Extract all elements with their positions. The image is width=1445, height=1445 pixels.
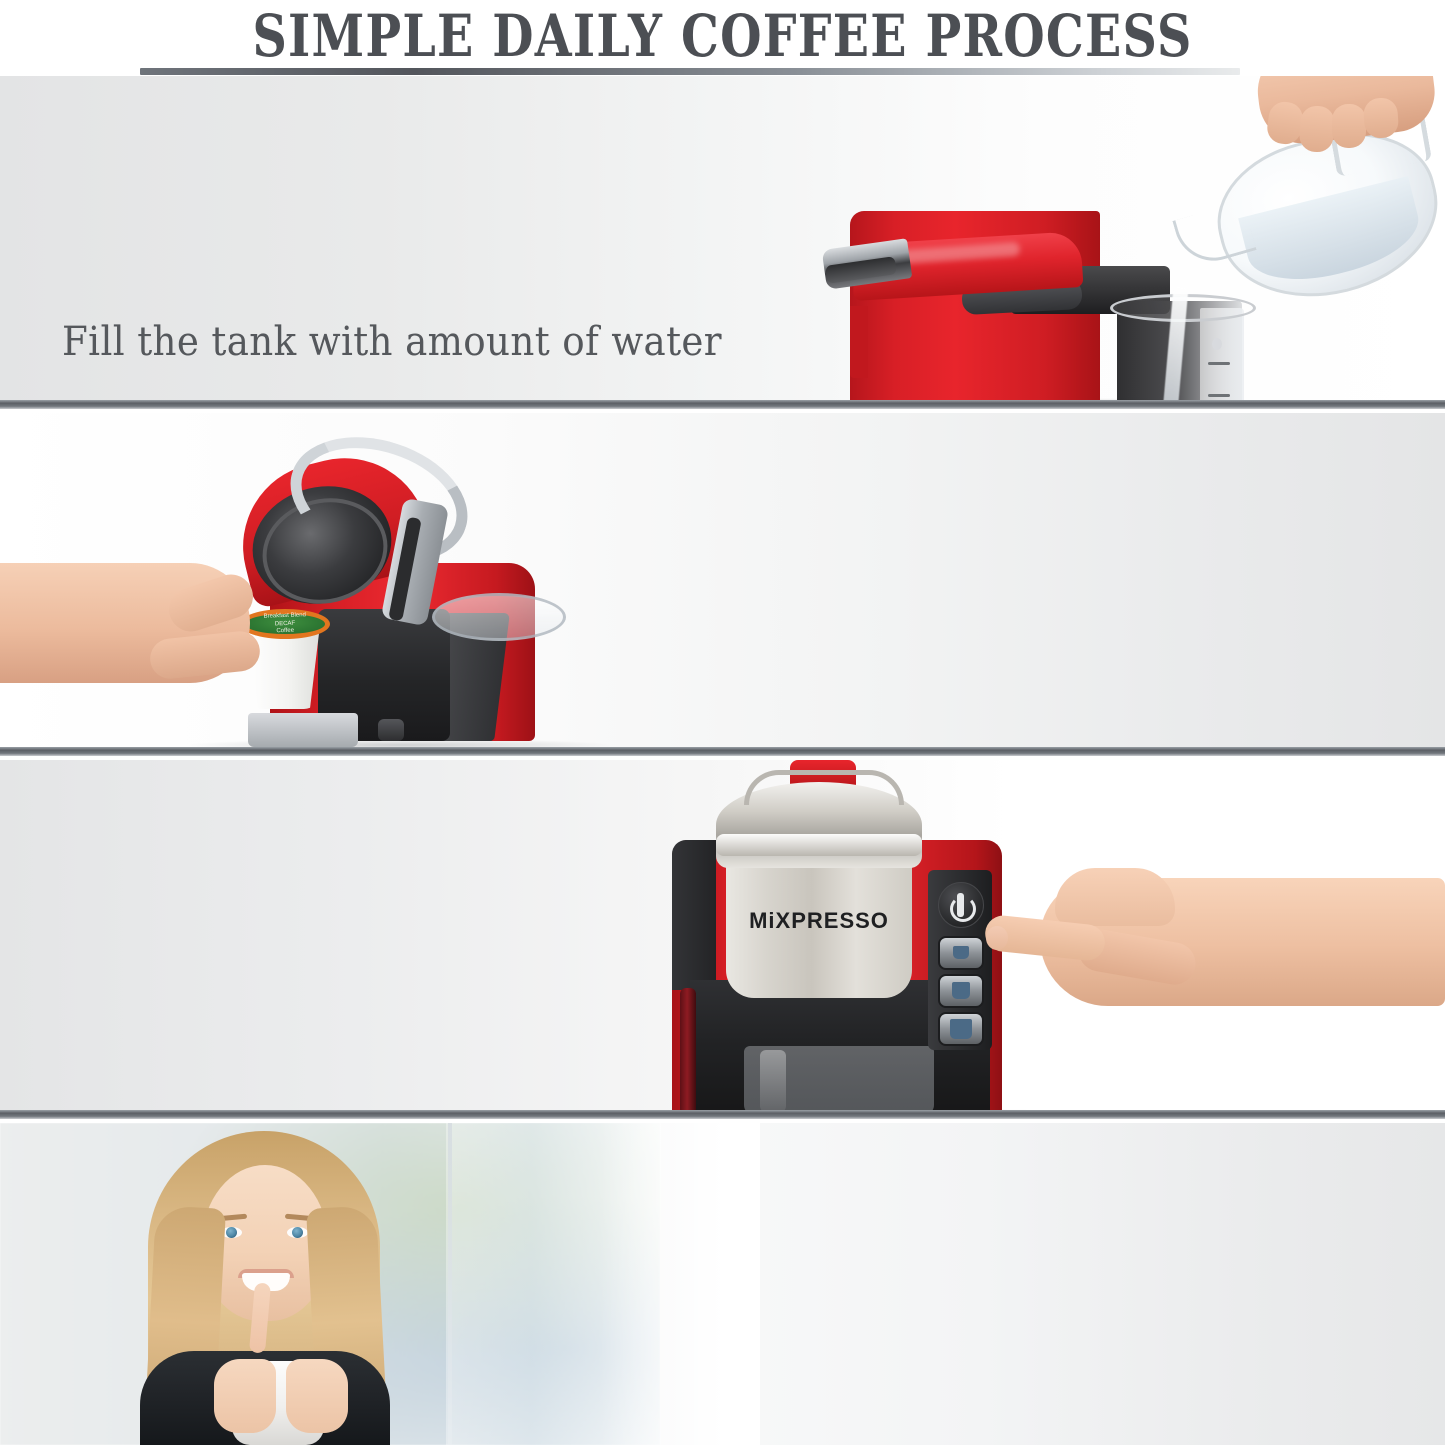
hand-finger bbox=[1363, 97, 1400, 139]
panel-divider-1 bbox=[0, 400, 1445, 409]
water-tank-window bbox=[1200, 308, 1244, 405]
step-2-illustration: Breakfast Blend DECAF Coffee bbox=[0, 413, 1445, 752]
step-3-illustration: MiXPRESSO bbox=[0, 760, 1445, 1115]
pod-label-line-3: Coffee bbox=[276, 628, 294, 635]
large-mug-icon bbox=[950, 1019, 972, 1039]
medium-cup-icon bbox=[952, 982, 970, 999]
panel-divider-2 bbox=[0, 747, 1445, 756]
step-1-caption: Fill the tank with amount of water bbox=[62, 314, 722, 371]
hand-left bbox=[214, 1359, 276, 1433]
step-panel-4: Enjoy your daily morning coffee... bbox=[0, 1123, 1445, 1445]
step-panel-2: Breakfast Blend DECAF Coffee Add our or … bbox=[0, 413, 1445, 752]
step-4-illustration bbox=[0, 1123, 1445, 1445]
hand-finger bbox=[1332, 104, 1366, 148]
tank-level-mark-upper bbox=[1208, 362, 1230, 365]
front-button bbox=[378, 719, 404, 741]
pod-label-line-2: DECAF bbox=[275, 620, 296, 627]
page-title: SIMPLE DAILY COFFEE PROCESS bbox=[130, 2, 1315, 70]
small-cup-icon bbox=[953, 946, 969, 959]
hand-right bbox=[286, 1359, 348, 1433]
brand-logo: MiXPRESSO bbox=[726, 908, 912, 934]
steel-cap-band bbox=[716, 834, 922, 856]
title-underline-rule bbox=[140, 68, 1240, 75]
pod-label-line-1: Breakfast Blend bbox=[263, 612, 306, 619]
coffee-process-infographic: SIMPLE DAILY COFFEE PROCESS bbox=[0, 0, 1445, 1445]
hand-knuckles bbox=[1055, 868, 1175, 926]
step-1-line-1: Fill the tank with amount of water bbox=[62, 314, 722, 371]
panel-divider-3 bbox=[0, 1110, 1445, 1119]
fingertip bbox=[986, 926, 1008, 950]
step-panel-3: MiXPRESSO Program your favorite size of … bbox=[0, 760, 1445, 1115]
drip-tray bbox=[248, 713, 358, 747]
photo-fade-to-white bbox=[600, 1123, 760, 1445]
water-level-tube bbox=[680, 988, 696, 1115]
mug-highlight bbox=[760, 1050, 786, 1112]
step-panel-1: Fill the tank with amount of water bbox=[0, 76, 1445, 405]
tank-float-indicator bbox=[1212, 338, 1222, 350]
coffee-pod-label: Breakfast Blend DECAF Coffee bbox=[242, 612, 329, 637]
power-icon bbox=[950, 896, 976, 922]
title-bar: SIMPLE DAILY COFFEE PROCESS bbox=[0, 0, 1445, 76]
clear-tank-lid bbox=[432, 593, 566, 641]
iris-left bbox=[226, 1227, 237, 1238]
cap-handle bbox=[744, 770, 904, 805]
coffee-maker-left-housing bbox=[672, 840, 716, 990]
hand-finger bbox=[1298, 105, 1335, 153]
iris-right bbox=[292, 1227, 303, 1238]
tank-level-mark-lower bbox=[1208, 394, 1230, 397]
